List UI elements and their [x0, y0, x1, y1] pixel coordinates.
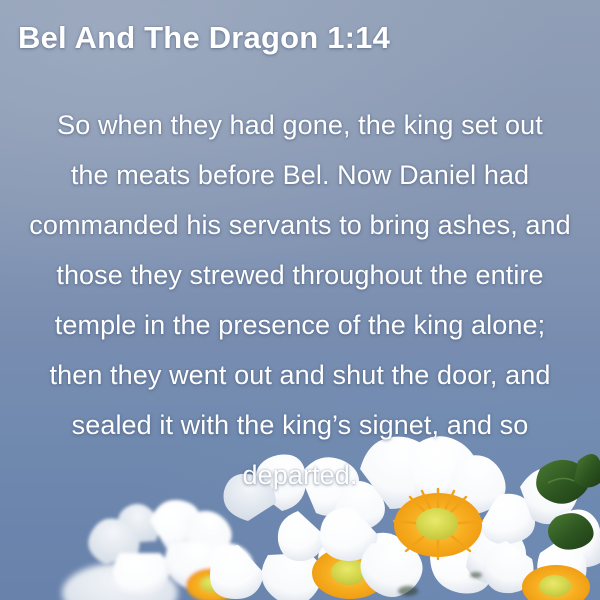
verse-line: temple in the presence of the king alone… [14, 300, 586, 350]
verse-line: sealed it with the king’s signet, and so [14, 400, 586, 450]
verse-line: those they strewed throughout the entire [14, 250, 586, 300]
flower-far-left [62, 563, 178, 600]
foreground-specks [398, 572, 482, 596]
leaf-right-lower [548, 513, 594, 550]
verse-image-canvas: Bel And The Dragon 1:14 So when they had… [0, 0, 600, 600]
verse-reference-title: Bel And The Dragon 1:14 [18, 20, 390, 56]
verse-text-block: So when they had gone, the king set out … [0, 100, 600, 500]
verse-line: So when they had gone, the king set out [14, 100, 586, 150]
verse-line: departed. [14, 450, 586, 500]
verse-line: commanded his servants to bring ashes, a… [14, 200, 586, 250]
flower-left [88, 500, 254, 600]
verse-line: the meats before Bel. Now Daniel had [14, 150, 586, 200]
verse-line: then they went out and shut the door, an… [14, 350, 586, 400]
